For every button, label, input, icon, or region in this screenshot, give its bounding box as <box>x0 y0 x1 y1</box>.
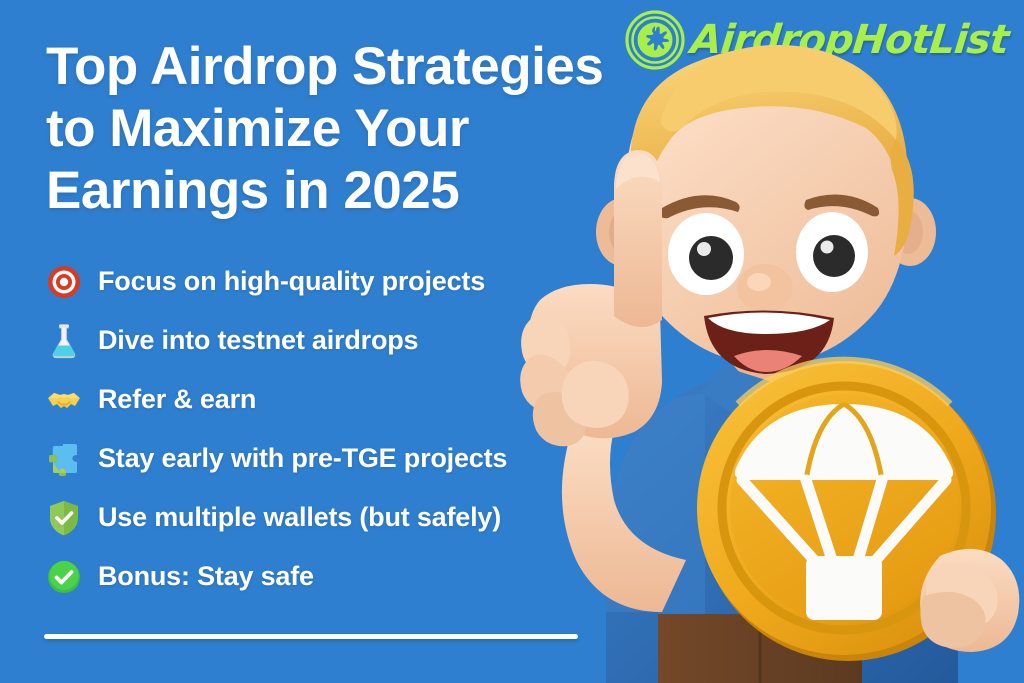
handshake-icon <box>44 380 84 420</box>
list-item-label: Focus on high-quality projects <box>98 266 485 297</box>
test-tube-flask-icon <box>44 321 84 361</box>
shield-check-icon <box>44 498 84 538</box>
airdrop-strategies-poster: AirdropHotList Top Airdrop Strategies to… <box>0 0 1024 683</box>
list-item-label: Refer & earn <box>98 384 256 415</box>
list-item-label: Dive into testnet airdrops <box>98 325 418 356</box>
bullseye-target-icon <box>44 262 84 302</box>
check-circle-icon <box>44 557 84 597</box>
cartoon-man-holding-airdrop-coin <box>510 0 1024 683</box>
list-item-label: Use multiple wallets (but safely) <box>98 502 501 533</box>
bottom-rule <box>44 634 578 639</box>
puzzle-piece-icon <box>44 439 84 479</box>
list-item-label: Bonus: Stay safe <box>98 561 314 592</box>
list-item-label: Stay early with pre-TGE projects <box>98 443 507 474</box>
